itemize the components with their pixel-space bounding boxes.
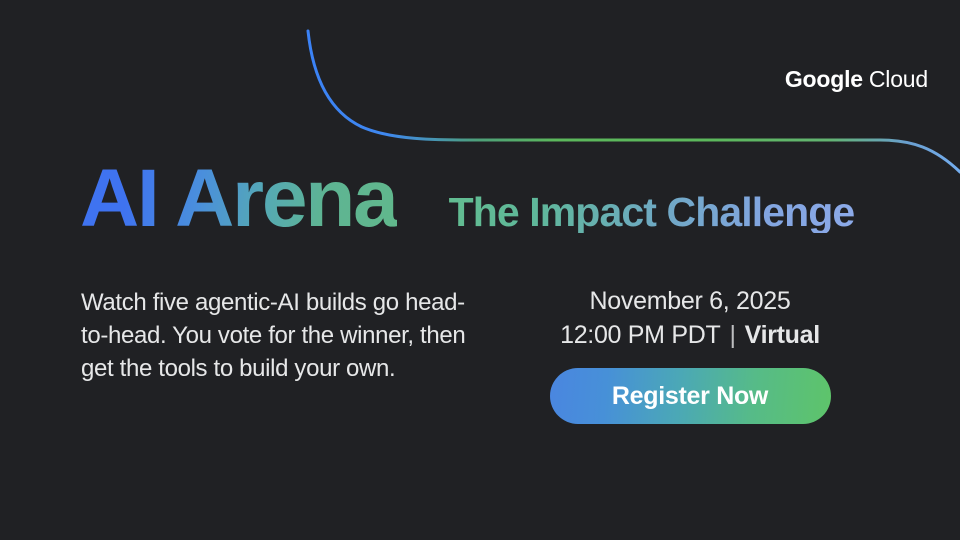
event-time: 12:00 PM PDT bbox=[560, 321, 720, 349]
detail-separator: | bbox=[729, 321, 735, 349]
event-details-block: November 6, 2025 12:00 PM PDT|Virtual Re… bbox=[516, 284, 864, 424]
logo-google-text: Google bbox=[785, 66, 863, 92]
promo-banner: GoogleCloud AI Arena The Impact Challeng… bbox=[0, 0, 960, 540]
cta-wrapper: Register Now bbox=[516, 368, 864, 424]
event-date: November 6, 2025 bbox=[516, 284, 864, 318]
page-subtitle: The Impact Challenge bbox=[449, 192, 855, 233]
register-now-button[interactable]: Register Now bbox=[550, 368, 831, 424]
logo-cloud-text: Cloud bbox=[869, 66, 928, 92]
headline-row: AI Arena The Impact Challenge bbox=[80, 158, 854, 240]
page-title: AI Arena bbox=[80, 158, 397, 240]
google-cloud-logo: GoogleCloud bbox=[785, 68, 928, 91]
description-text: Watch five agentic-AI builds go head-to-… bbox=[81, 286, 481, 385]
event-format: Virtual bbox=[745, 321, 820, 349]
event-time-row: 12:00 PM PDT|Virtual bbox=[516, 318, 864, 352]
